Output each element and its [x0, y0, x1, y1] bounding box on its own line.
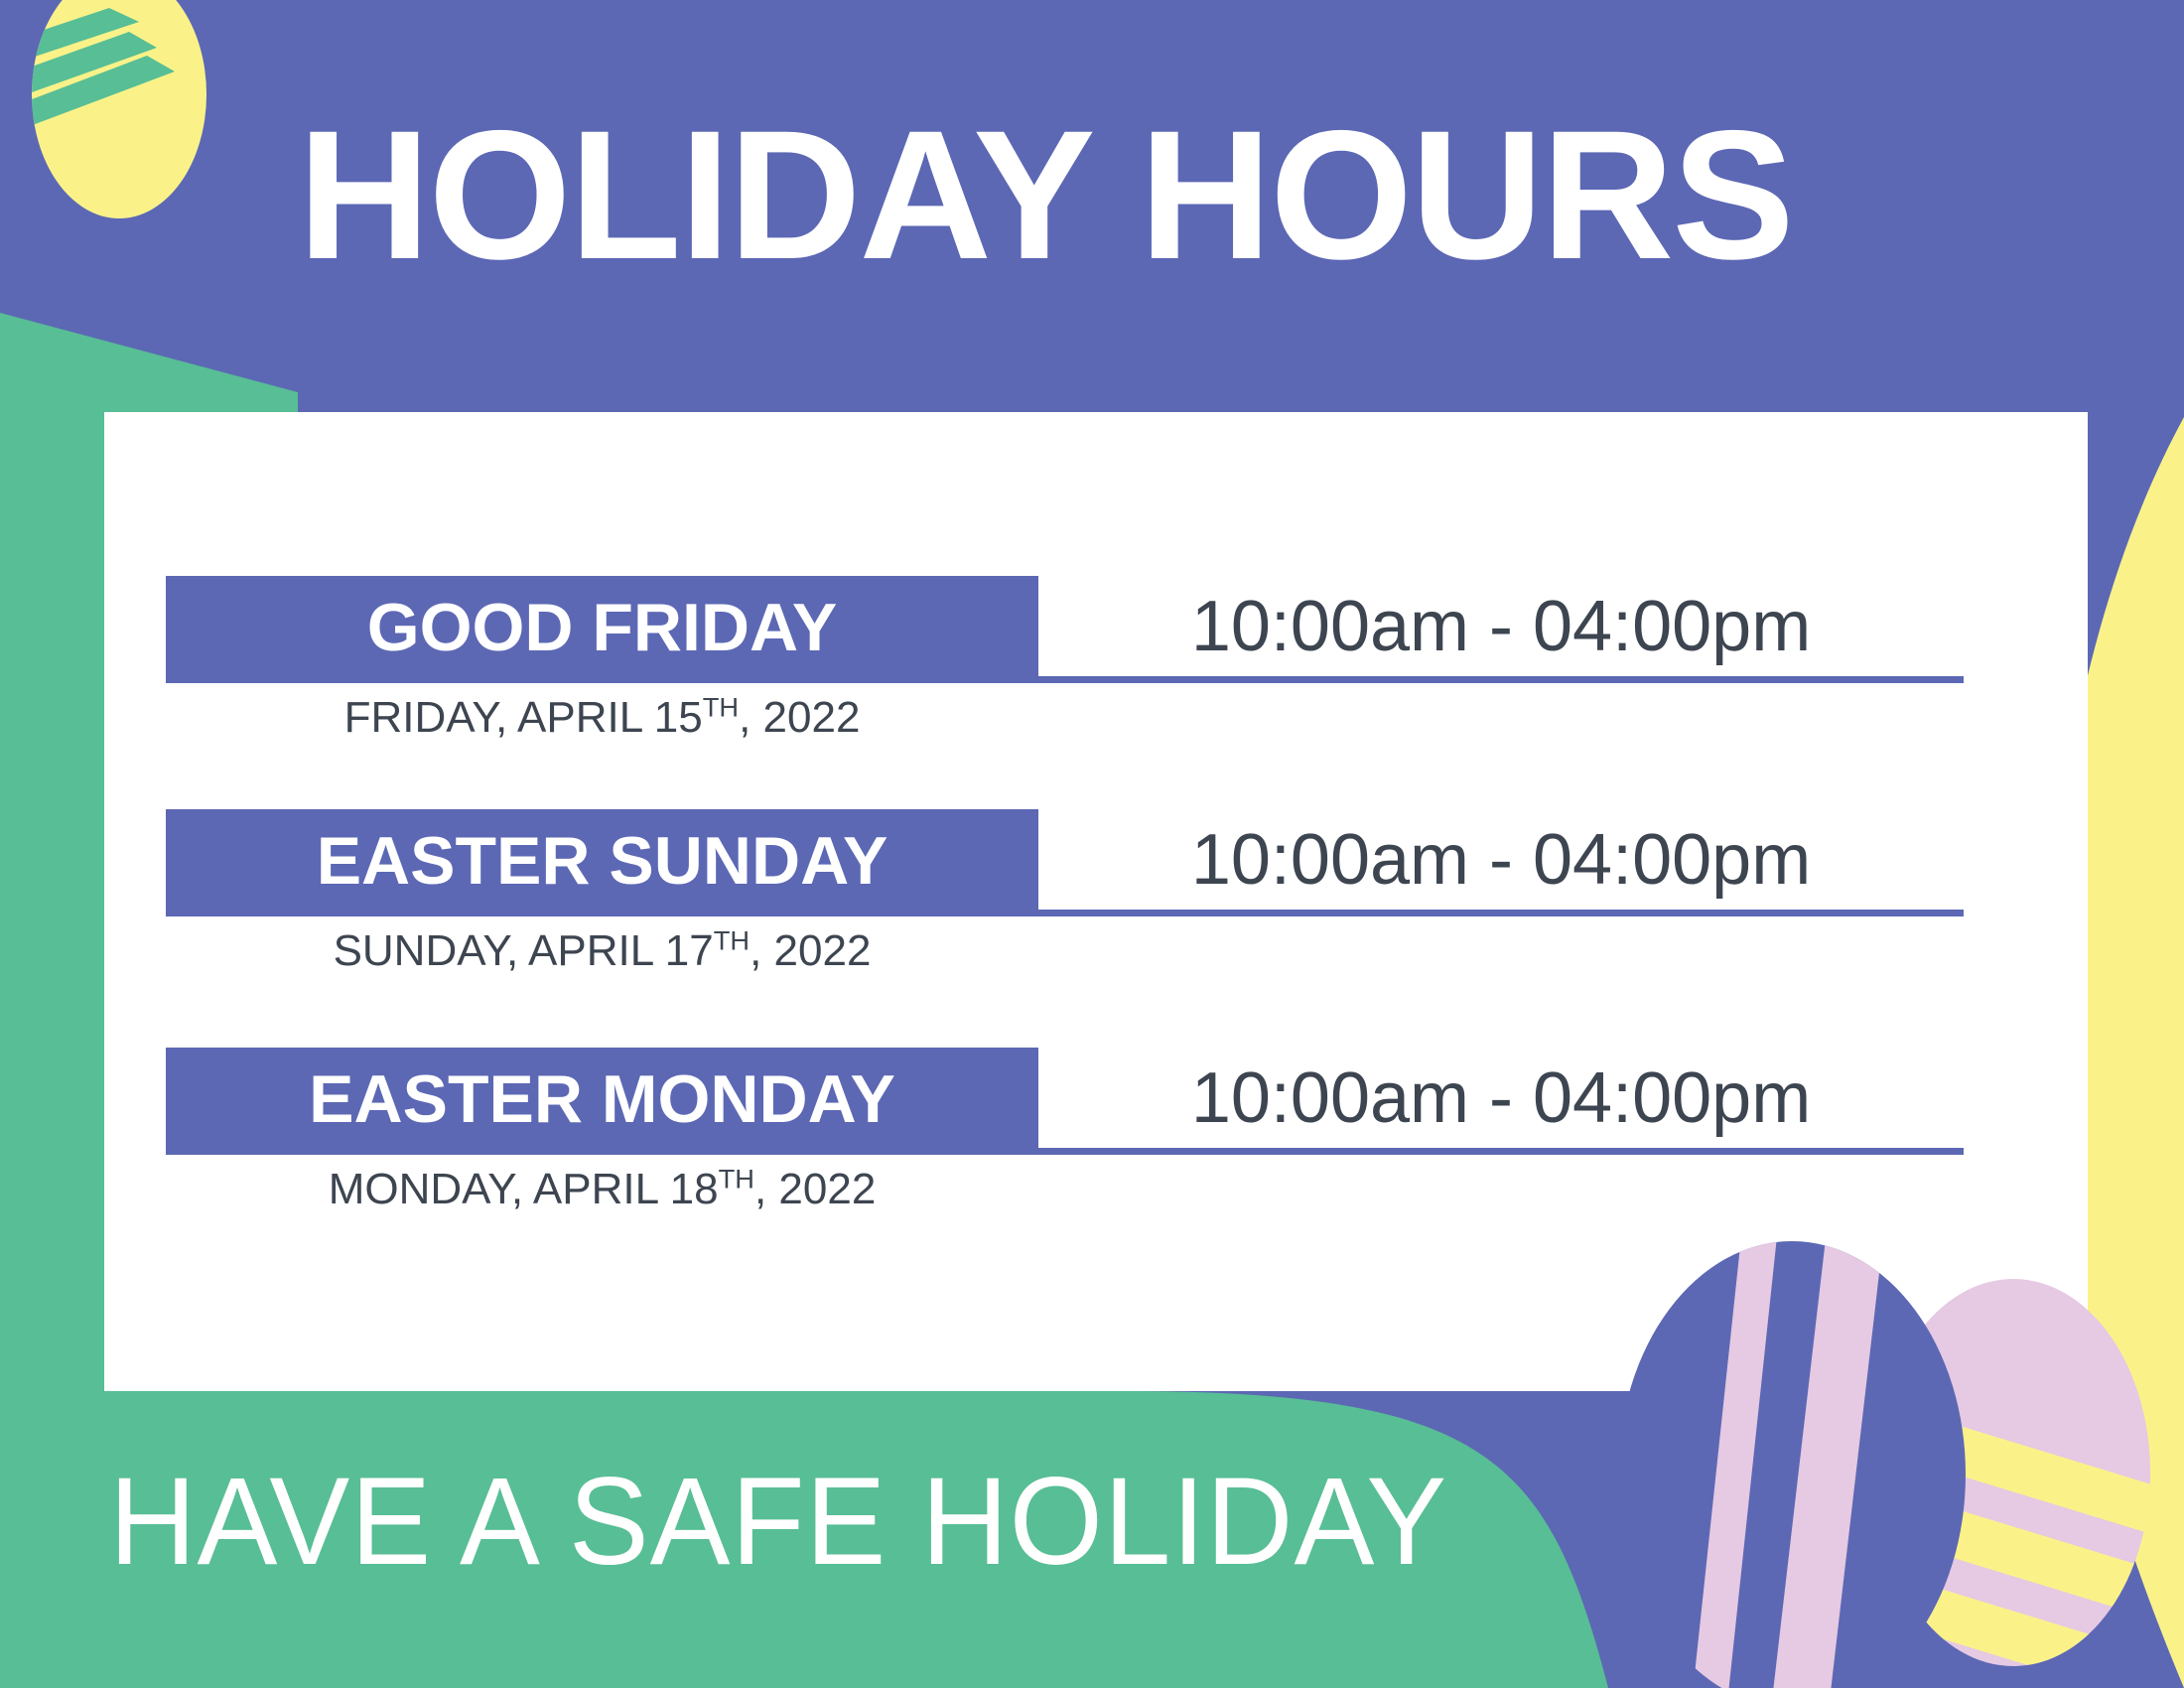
- holiday-hours-cell: 10:00am - 04:00pm: [1038, 809, 1964, 916]
- striped-egg-icon-top-left: [30, 0, 208, 218]
- holiday-hours-poster: GOOD FRIDAY 10:00am - 04:00pm FRIDAY, AP…: [0, 0, 2184, 1688]
- holiday-name-bar: EASTER SUNDAY: [166, 809, 1038, 916]
- page-title: HOLIDAY HOURS: [298, 104, 1926, 288]
- schedule-row-easter-sunday: EASTER SUNDAY 10:00am - 04:00pm SUNDAY, …: [166, 809, 1992, 976]
- holiday-hours-cell: 10:00am - 04:00pm: [1038, 576, 1964, 683]
- holiday-date-year: , 2022: [739, 693, 860, 742]
- holiday-name: EASTER MONDAY: [309, 1060, 895, 1138]
- schedule-row-easter-monday: EASTER MONDAY 10:00am - 04:00pm MONDAY, …: [166, 1048, 1992, 1214]
- holiday-date-prefix: SUNDAY, APRIL 17: [334, 926, 714, 975]
- schedule-row-main: GOOD FRIDAY 10:00am - 04:00pm: [166, 576, 1992, 683]
- holiday-name-bar: EASTER MONDAY: [166, 1048, 1038, 1155]
- holiday-date-ordinal: TH: [703, 691, 739, 722]
- striped-egg-icon-bottom-center: [1608, 1221, 2005, 1688]
- holiday-hours-cell: 10:00am - 04:00pm: [1038, 1048, 1964, 1155]
- holiday-date: FRIDAY, APRIL 15TH, 2022: [166, 693, 1038, 743]
- footer-message: HAVE A SAFE HOLIDAY: [109, 1460, 1447, 1584]
- holiday-hours-value: 10:00am - 04:00pm: [1191, 1057, 1811, 1139]
- holiday-date-prefix: FRIDAY, APRIL 15: [344, 693, 703, 742]
- holiday-date: MONDAY, APRIL 18TH, 2022: [166, 1165, 1038, 1214]
- schedule-row-main: EASTER SUNDAY 10:00am - 04:00pm: [166, 809, 1992, 916]
- holiday-hours-value: 10:00am - 04:00pm: [1191, 586, 1811, 667]
- holiday-date: SUNDAY, APRIL 17TH, 2022: [166, 926, 1038, 976]
- holiday-name: EASTER SUNDAY: [317, 822, 888, 900]
- holiday-date-prefix: MONDAY, APRIL 18: [329, 1165, 719, 1213]
- holiday-date-ordinal: TH: [714, 924, 750, 955]
- holiday-date-year: , 2022: [754, 1165, 876, 1213]
- schedule-row-good-friday: GOOD FRIDAY 10:00am - 04:00pm FRIDAY, AP…: [166, 576, 1992, 743]
- schedule-row-main: EASTER MONDAY 10:00am - 04:00pm: [166, 1048, 1992, 1155]
- holiday-date-ordinal: TH: [719, 1163, 754, 1194]
- holiday-name: GOOD FRIDAY: [367, 589, 838, 666]
- holiday-date-year: , 2022: [750, 926, 871, 975]
- holiday-name-bar: GOOD FRIDAY: [166, 576, 1038, 683]
- holiday-hours-value: 10:00am - 04:00pm: [1191, 819, 1811, 901]
